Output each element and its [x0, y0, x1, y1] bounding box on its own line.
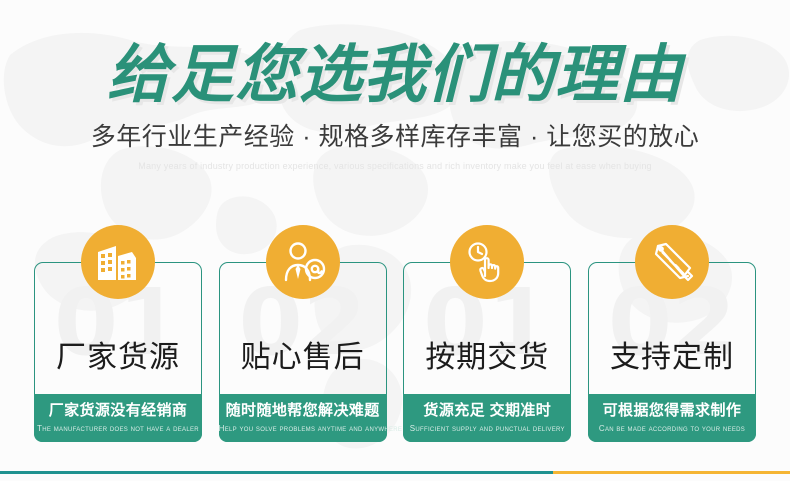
feature-card[interactable]: 01 按期交货 货源充足 交期准时 Sufficient supply and …	[403, 262, 571, 442]
clock-hand-click-icon	[450, 225, 524, 299]
card-footer-chinese: 厂家货源没有经销商	[34, 401, 202, 421]
feature-card[interactable]: 01 厂家货源 厂家货源没有经销商 The manufacturer does …	[34, 262, 202, 442]
feature-card[interactable]: 02 支持定制 可根据您得需求制作 Can be made according …	[588, 262, 756, 442]
support-agent-at-icon	[266, 225, 340, 299]
card-footer-english: The manufacturer does not have a dealer	[34, 423, 202, 434]
feature-card[interactable]: 02 贴心售后 随时随地帮您解决难题 Help you solve proble…	[219, 262, 387, 442]
bottom-divider	[0, 471, 790, 474]
ruler-pencil-icon	[635, 225, 709, 299]
promo-banner: 给足您选我们的理由 多年行业生产经验 · 规格多样库存丰富 · 让您买的放心 M…	[0, 0, 790, 481]
subtitle-chinese: 多年行业生产经验 · 规格多样库存丰富 · 让您买的放心	[0, 122, 790, 152]
card-title: 厂家货源	[56, 340, 180, 376]
card-footer-english: Sufficient supply and punctual delivery	[403, 423, 571, 434]
subtitle-english: Many years of industry production experi…	[0, 160, 790, 172]
card-footer: 货源充足 交期准时 Sufficient supply and punctual…	[403, 394, 571, 442]
card-title: 支持定制	[610, 340, 734, 376]
factory-building-icon	[81, 225, 155, 299]
card-footer: 厂家货源没有经销商 The manufacturer does not have…	[34, 394, 202, 442]
card-footer-english: Help you solve problems anytime and anyw…	[219, 423, 387, 434]
card-footer: 可根据您得需求制作 Can be made according to your …	[588, 394, 756, 442]
card-footer-chinese: 随时随地帮您解决难题	[219, 401, 387, 421]
card-footer-chinese: 货源充足 交期准时	[403, 401, 571, 421]
card-title: 贴心售后	[241, 340, 365, 376]
card-footer-english: Can be made according to your needs	[588, 423, 756, 434]
card-footer: 随时随地帮您解决难题 Help you solve problems anyti…	[219, 394, 387, 442]
feature-card-list: 01 厂家货源 厂家货源没有经销商 The manufacturer does …	[34, 262, 756, 442]
card-footer-chinese: 可根据您得需求制作	[588, 401, 756, 421]
card-title: 按期交货	[425, 340, 549, 376]
bottom-divider-green-segment	[0, 471, 553, 474]
page-title: 给足您选我们的理由	[0, 42, 790, 108]
heading-block: 给足您选我们的理由 多年行业生产经验 · 规格多样库存丰富 · 让您买的放心 M…	[0, 42, 790, 172]
bottom-divider-orange-segment	[553, 471, 790, 474]
